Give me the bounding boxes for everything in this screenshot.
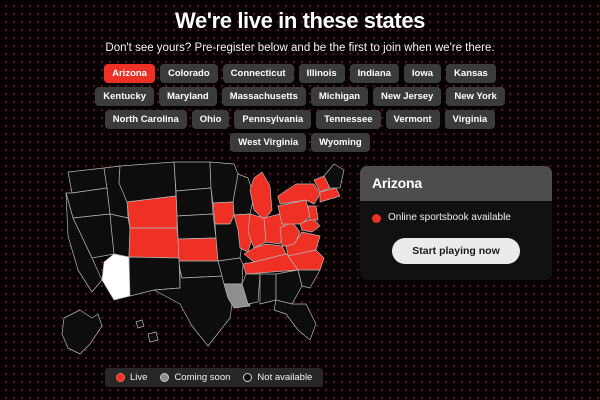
state-pill-michigan[interactable]: Michigan [311, 87, 368, 106]
map-state-michigan[interactable] [250, 172, 272, 220]
state-availability-page: We're live in these states Don't see you… [0, 0, 600, 400]
us-map-svg[interactable] [58, 158, 358, 368]
legend-dot-icon [116, 373, 125, 382]
state-pill-north-carolina[interactable]: North Carolina [105, 110, 187, 129]
legend-dot-icon [243, 373, 252, 382]
map-state-georgia[interactable] [276, 270, 302, 304]
state-info-panel-body: Online sportsbook available Start playin… [360, 201, 552, 280]
state-pill-iowa[interactable]: Iowa [404, 64, 441, 83]
map-state-iowa[interactable] [213, 202, 234, 224]
legend-item-coming-soon: Coming soon [160, 372, 230, 383]
map-state-south-dakota[interactable] [176, 188, 213, 216]
map-state-new-jersey[interactable] [308, 206, 318, 220]
state-pill-list: ArizonaColoradoConnecticutIllinoisIndian… [0, 64, 600, 152]
state-info-title: Arizona [372, 175, 540, 191]
map-state-hawaii[interactable] [136, 320, 144, 328]
map-state-colorado[interactable] [129, 228, 179, 258]
state-pill-virginia[interactable]: Virginia [445, 110, 496, 129]
state-pill-west-virginia[interactable]: West Virginia [230, 133, 306, 152]
state-pill-indiana[interactable]: Indiana [350, 64, 399, 83]
us-map[interactable] [58, 158, 358, 368]
page-header: We're live in these states Don't see you… [0, 0, 600, 55]
page-title: We're live in these states [0, 8, 600, 34]
state-pill-ohio[interactable]: Ohio [192, 110, 230, 129]
state-pill-arizona[interactable]: Arizona [104, 64, 155, 83]
availability-status-label: Online sportsbook available [388, 212, 511, 224]
start-playing-button[interactable]: Start playing now [392, 238, 520, 264]
map-state-arizona[interactable] [102, 254, 130, 300]
state-pill-row: KentuckyMarylandMassachusettsMichiganNew… [95, 87, 505, 106]
state-pill-vermont[interactable]: Vermont [386, 110, 440, 129]
legend-label: Coming soon [174, 372, 230, 383]
state-info-panel: Arizona Online sportsbook available Star… [360, 166, 552, 280]
map-state-alabama[interactable] [260, 274, 276, 304]
legend-label: Live [130, 372, 147, 383]
state-pill-kansas[interactable]: Kansas [446, 64, 496, 83]
legend-item-not-available: Not available [243, 372, 312, 383]
map-state-alaska[interactable] [62, 310, 102, 354]
map-state-nebraska[interactable] [177, 214, 216, 239]
map-state-wyoming[interactable] [127, 196, 177, 228]
legend-label: Not available [257, 372, 312, 383]
map-state-oklahoma[interactable] [179, 261, 224, 278]
state-pill-new-jersey[interactable]: New Jersey [373, 87, 441, 106]
state-pill-maryland[interactable]: Maryland [159, 87, 217, 106]
state-pill-row: North CarolinaOhioPennsylvaniaTennesseeV… [105, 110, 495, 129]
page-subtitle: Don't see yours? Pre-register below and … [0, 41, 600, 55]
map-state-north-dakota[interactable] [174, 162, 211, 191]
state-pill-row: ArizonaColoradoConnecticutIllinoisIndian… [104, 64, 496, 83]
legend-dot-icon [160, 373, 169, 382]
state-pill-massachusetts[interactable]: Massachusetts [222, 87, 306, 106]
state-pill-pennsylvania[interactable]: Pennsylvania [234, 110, 311, 129]
map-legend: LiveComing soonNot available [105, 368, 323, 387]
state-pill-colorado[interactable]: Colorado [160, 64, 218, 83]
state-pill-illinois[interactable]: Illinois [299, 64, 345, 83]
state-pill-kentucky[interactable]: Kentucky [95, 87, 154, 106]
state-pill-new-york[interactable]: New York [446, 87, 504, 106]
state-pill-tennessee[interactable]: Tennessee [316, 110, 380, 129]
state-pill-connecticut[interactable]: Connecticut [223, 64, 294, 83]
map-state-new-york[interactable] [278, 184, 320, 204]
state-pill-wyoming[interactable]: Wyoming [311, 133, 370, 152]
map-state-hawaii-2[interactable] [148, 332, 158, 342]
legend-item-live: Live [116, 372, 147, 383]
map-state-florida[interactable] [274, 300, 316, 340]
status-dot-icon [372, 214, 381, 223]
map-state-kansas[interactable] [178, 238, 218, 261]
map-state-montana[interactable] [119, 162, 176, 202]
state-info-panel-header: Arizona [360, 166, 552, 201]
availability-status: Online sportsbook available [372, 212, 540, 224]
state-pill-row: West VirginiaWyoming [230, 133, 369, 152]
